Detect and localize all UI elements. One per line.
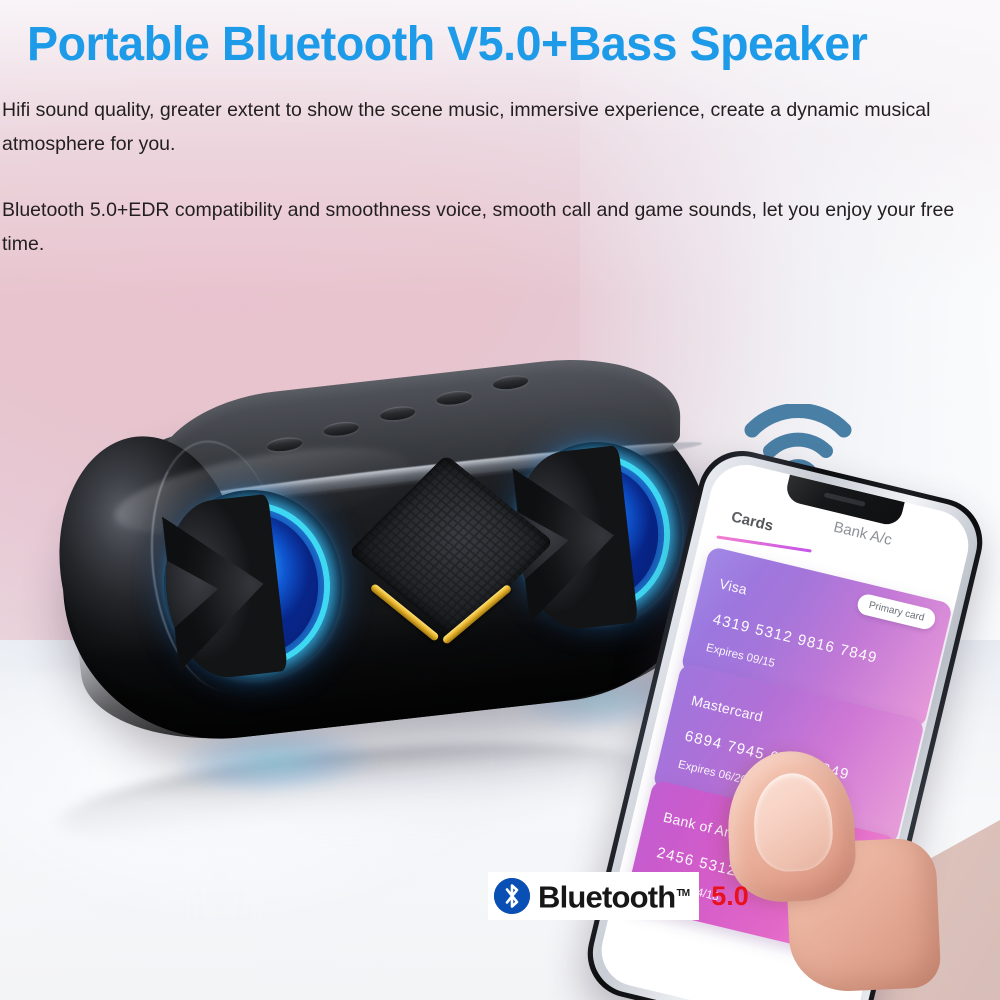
fingernail xyxy=(752,772,834,873)
bluetooth-version: 5.0 xyxy=(711,878,749,914)
control-button-mode[interactable] xyxy=(492,374,529,392)
bluetooth-logo-badge: BluetoothTM 5.0 xyxy=(488,871,738,921)
bluetooth-wordmark: BluetoothTM xyxy=(538,876,689,915)
primary-card-badge: Primary card xyxy=(856,592,937,631)
bluetooth-logo-plate: BluetoothTM xyxy=(488,872,699,919)
pointing-finger xyxy=(725,745,935,984)
gold-accent-left xyxy=(369,583,439,642)
speaker-driver-left xyxy=(154,481,352,690)
card-brand-label: Mastercard xyxy=(690,692,765,725)
bluetooth-wordmark-text: Bluetooth xyxy=(538,880,675,915)
control-button-next[interactable] xyxy=(435,389,472,407)
description-paragraph-2: Bluetooth 5.0+EDR compatibility and smoo… xyxy=(2,193,987,261)
control-button-play[interactable] xyxy=(379,405,416,423)
page-title: Portable Bluetooth V5.0+Bass Speaker xyxy=(27,16,949,74)
earpiece-slot xyxy=(824,492,866,507)
description-paragraph-1: Hifi sound quality, greater extent to sh… xyxy=(2,93,987,161)
gold-accent-trim xyxy=(374,560,524,650)
trademark-symbol: TM xyxy=(676,888,689,899)
gold-accent-right xyxy=(441,584,512,645)
card-expiry: Expires 09/15 xyxy=(705,642,776,670)
control-button-power[interactable] xyxy=(266,436,303,454)
card-brand-label: Visa xyxy=(718,575,749,597)
control-button-previous[interactable] xyxy=(322,420,359,438)
tab-cards[interactable]: Cards xyxy=(730,508,775,534)
bluetooth-icon xyxy=(494,878,530,914)
product-marketing-banner: Portable Bluetooth V5.0+Bass Speaker Hif… xyxy=(0,0,1000,1000)
